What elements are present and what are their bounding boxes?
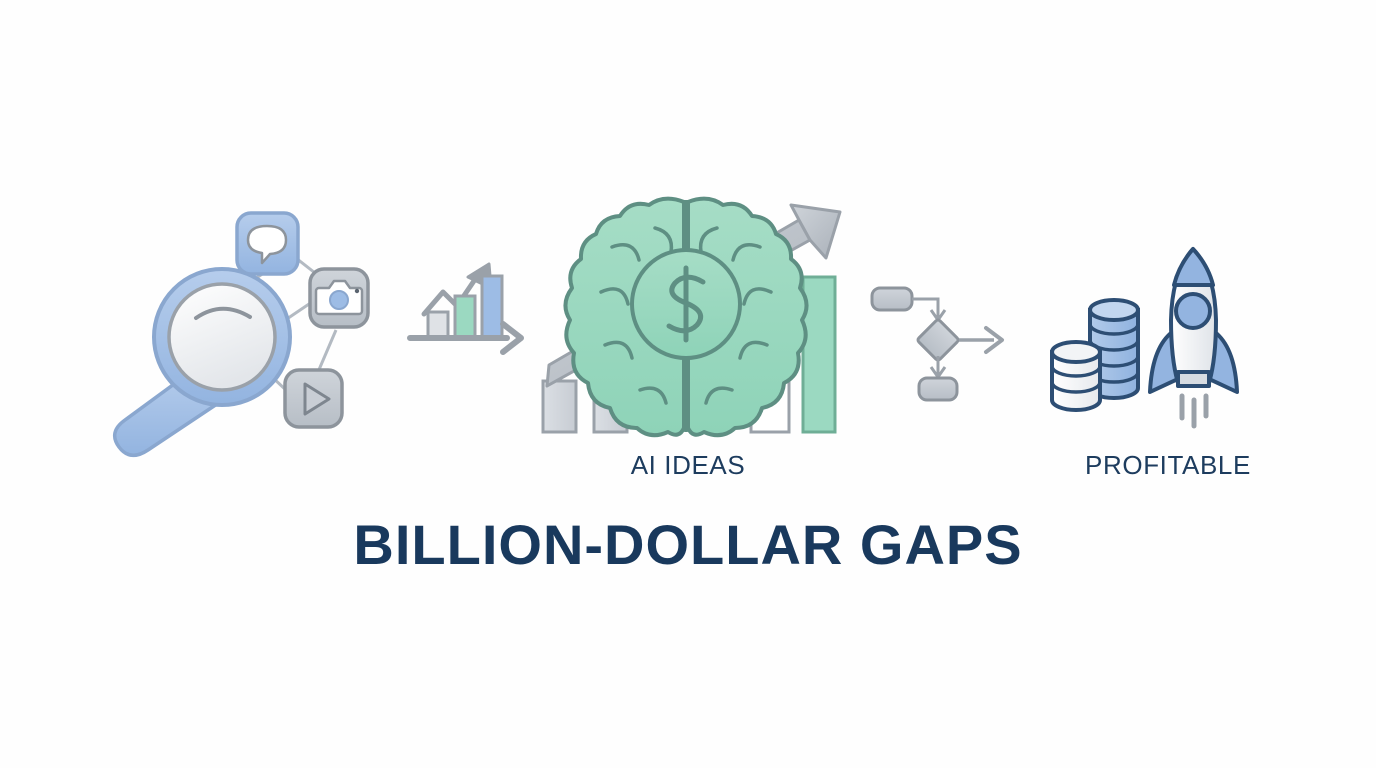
ai-ideas-graphic: [543, 199, 840, 436]
rocket-thrust-lines: [1182, 396, 1206, 426]
profitable-graphic: [1052, 249, 1237, 426]
infographic-illustration: [0, 0, 1376, 768]
camera-tile: [310, 269, 368, 327]
rocket-window: [1176, 294, 1210, 328]
coin-stack-blue-top: [1090, 300, 1138, 320]
rocket-nose-cone: [1174, 249, 1213, 285]
chat-bubble-tile: [237, 213, 298, 274]
rocket-base: [1178, 372, 1209, 386]
play-tile: [285, 370, 342, 427]
mini-bar-3: [482, 276, 502, 338]
mini-growth-chart: [410, 264, 521, 352]
camera-lens-icon: [330, 291, 348, 309]
dollar-coin-icon: [632, 250, 740, 358]
coin-stack-white: [1052, 342, 1100, 410]
infographic-canvas: AI IDEAS PROFITABLE BILLION-DOLLAR GAPS: [0, 0, 1376, 768]
mini-bar-1: [428, 312, 448, 338]
research-cluster: [115, 213, 368, 455]
camera-flash-icon: [355, 289, 359, 293]
magnifier-lens: [169, 284, 275, 390]
process-box-end: [919, 378, 957, 400]
flowchart-icon: [872, 288, 1002, 400]
magnifier-icon: [115, 269, 290, 455]
process-box-start: [872, 288, 912, 310]
connector-line-camera-play: [318, 330, 336, 372]
profitable-label: PROFITABLE: [1040, 450, 1296, 481]
coin-stack-white-top: [1052, 342, 1100, 362]
rocket-icon: [1150, 249, 1237, 426]
decision-diamond-icon: [917, 319, 959, 361]
ai-bar-1: [543, 381, 576, 432]
ai-ideas-label: AI IDEAS: [560, 450, 816, 481]
page-title: BILLION-DOLLAR GAPS: [0, 512, 1376, 577]
mini-bar-2: [455, 296, 475, 338]
